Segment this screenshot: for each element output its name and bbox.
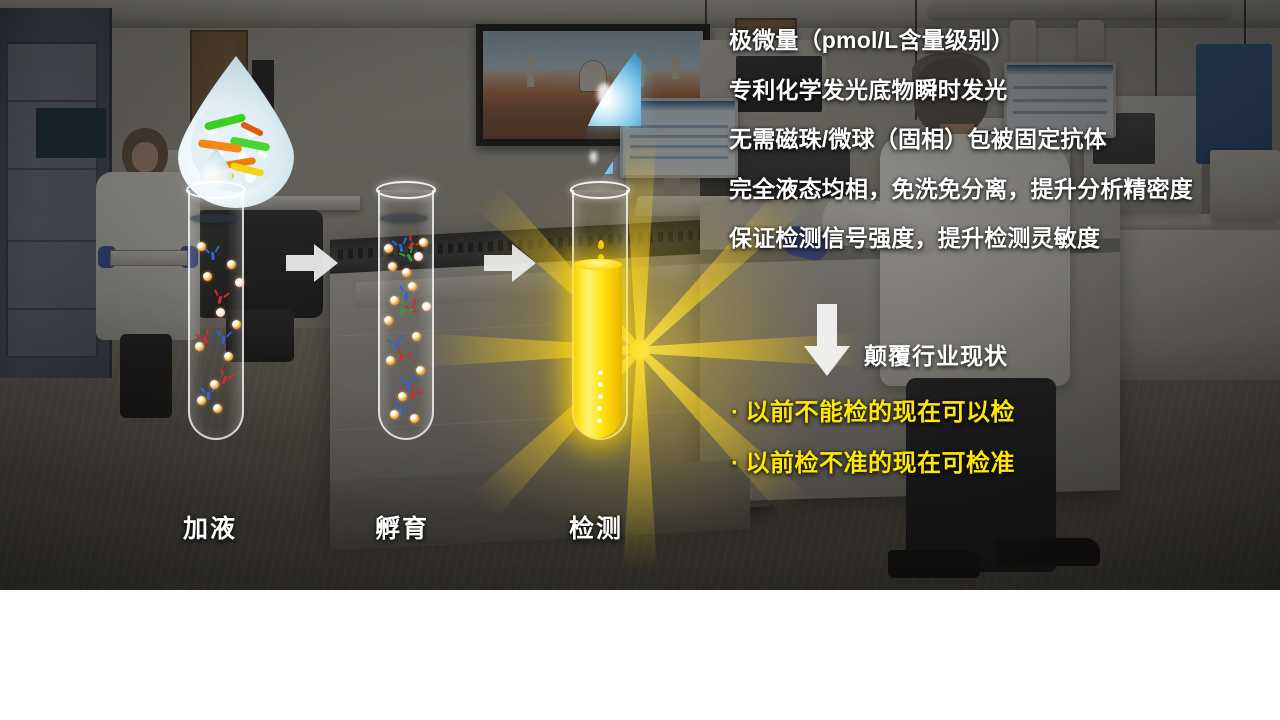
water-droplet-icon	[585, 52, 641, 126]
feature-line-1: 极微量（pmol/L含量级别）	[729, 26, 1269, 55]
tube-rim	[186, 181, 246, 199]
feature-line-5: 保证检测信号强度，提升检测灵敏度	[729, 224, 1269, 253]
step-label-detect: 检测	[569, 509, 623, 545]
tube-rim	[570, 181, 630, 199]
step-label-incubate: 孵育	[375, 509, 429, 545]
bullet-marker: ·	[731, 399, 740, 426]
highlight-list: ·以前不能检的现在可以检 ·以前检不准的现在可检准	[731, 392, 1015, 494]
step-label-add-liquid: 加液	[183, 509, 237, 545]
arrow-down-icon	[804, 304, 850, 376]
arrow-right-icon	[484, 243, 536, 283]
highlight-line-1: ·以前不能检的现在可以检	[731, 392, 1015, 427]
feature-list: 极微量（pmol/L含量级别） 专利化学发光底物瞬时发光 无需磁珠/微球（固相）…	[729, 26, 1269, 274]
highlight-line-2: ·以前检不准的现在可检准	[731, 443, 1015, 478]
test-tube-step2	[378, 190, 434, 440]
tube-rim	[376, 181, 436, 199]
glowing-liquid	[574, 264, 622, 438]
highlight-text: 以前检不准的现在可检准	[746, 450, 1016, 477]
arrow-right-icon	[286, 243, 338, 283]
feature-line-4: 完全液态均相，免洗免分离，提升分析精密度	[729, 175, 1269, 204]
disrupt-industry-label: 颠覆行业现状	[864, 337, 1008, 371]
highlight-text: 以前不能检的现在可以检	[746, 399, 1016, 426]
falling-reagent-drop	[598, 240, 604, 249]
water-droplet-icon	[583, 134, 613, 174]
liquid-surface	[574, 259, 622, 270]
feature-line-2: 专利化学发光底物瞬时发光	[729, 76, 1269, 105]
test-tube-step1	[188, 190, 244, 440]
bullet-marker: ·	[731, 450, 740, 477]
feature-line-3: 无需磁珠/微球（固相）包被固定抗体	[729, 125, 1269, 154]
test-tube-step3	[572, 190, 628, 440]
slide-canvas: 加液 孵育 检测 极微量（pmol/L含量级别） 专利化学发光底物瞬时发光 无需…	[0, 0, 1280, 720]
